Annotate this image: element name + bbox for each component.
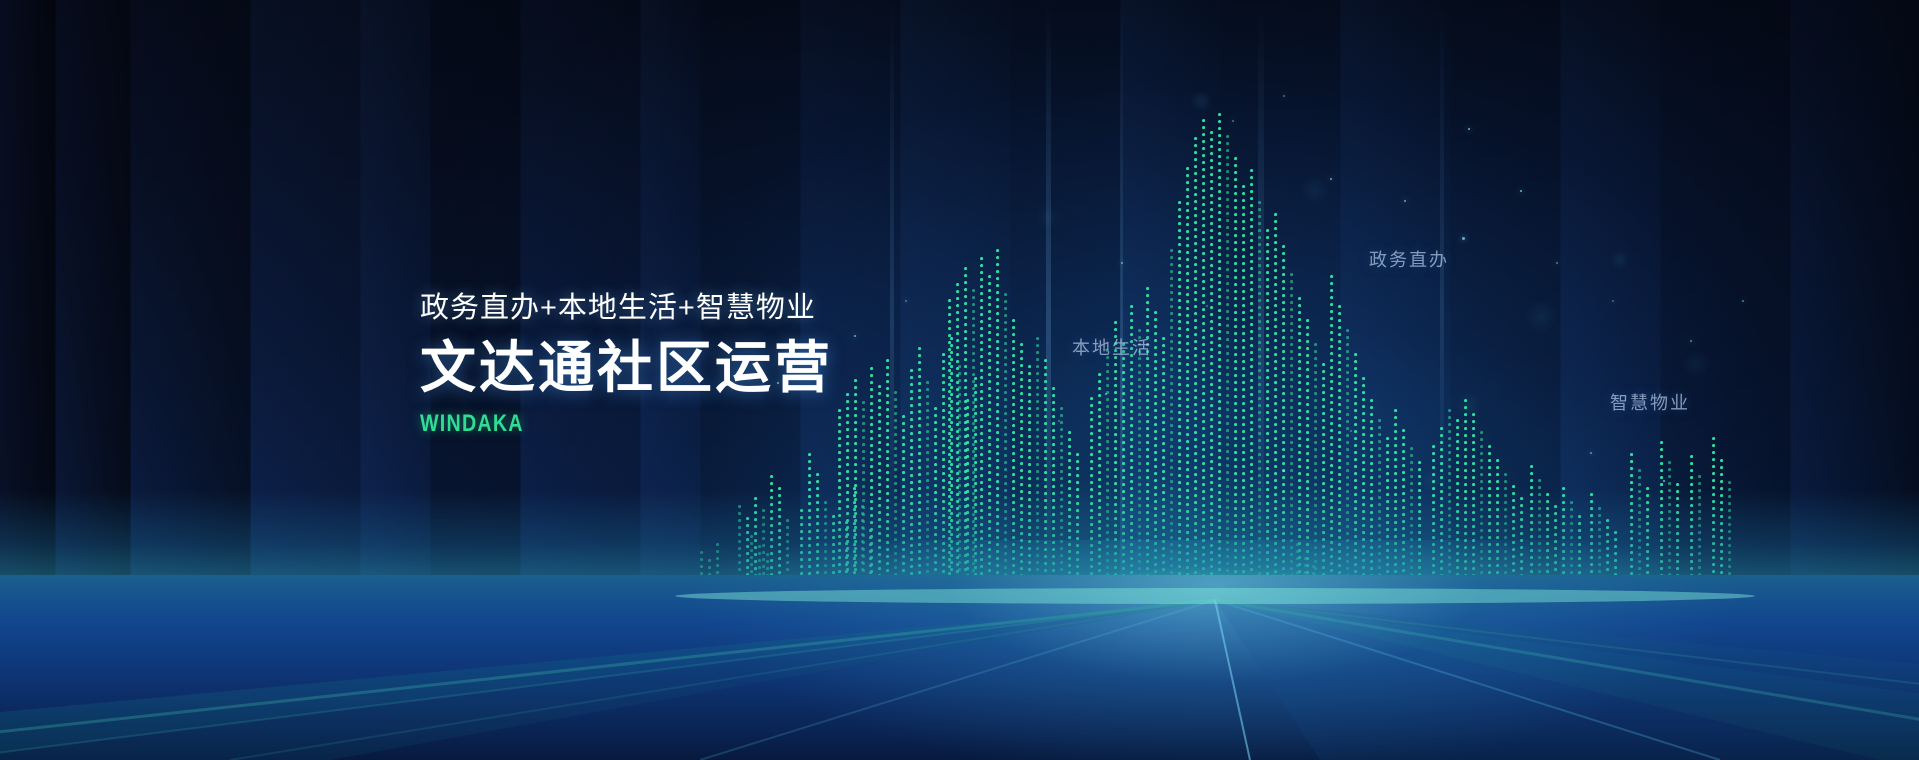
sparkle-particle: [1404, 200, 1406, 202]
city-dot-column: [972, 289, 979, 605]
sparkle-particle: [1742, 300, 1744, 302]
sparkle-particle: [1232, 120, 1234, 122]
city-dot-column: [1330, 275, 1337, 605]
banner-title: 文达通社区运营: [420, 336, 833, 400]
city-dot-column: [1282, 245, 1289, 605]
sparkle-particle: [1350, 430, 1352, 432]
bokeh-particle: [1300, 175, 1330, 205]
city-dot-column: [1186, 167, 1193, 605]
city-dot-column: [956, 283, 963, 605]
city-dot-column: [1194, 137, 1201, 605]
city-dot-column: [1234, 157, 1241, 605]
sparkle-particle: [1058, 420, 1060, 422]
city-dot-column: [1098, 373, 1105, 605]
sparkle-particle: [1663, 480, 1665, 482]
bokeh-particle: [1036, 205, 1060, 229]
city-dot-column: [886, 359, 893, 605]
bokeh-particle: [1682, 350, 1710, 378]
city-dot-column: [1250, 169, 1257, 605]
city-dot-column: [1226, 135, 1233, 605]
city-dot-column: [1218, 113, 1225, 605]
bokeh-particle: [1524, 300, 1558, 334]
city-dot-column: [846, 393, 853, 605]
city-dot-column: [1346, 329, 1353, 605]
city-dot-column: [1266, 229, 1273, 605]
city-dot-column: [1338, 305, 1345, 605]
city-dot-column: [1210, 131, 1217, 605]
hero-banner: 政务直办 本地生活 智慧物业 政务直办+本地生活+智慧物业 文达通社区运营 WI…: [0, 0, 1919, 760]
city-dot-column: [1154, 311, 1161, 605]
city-dot-column: [878, 385, 885, 605]
city-dot-column: [988, 275, 995, 605]
sparkle-particle: [1556, 262, 1558, 264]
city-dot-column: [1322, 363, 1329, 605]
city-dot-column: [948, 299, 955, 605]
city-dot-column: [1020, 343, 1027, 605]
city-dot-column: [1258, 201, 1265, 605]
city-dot-column: [1044, 359, 1051, 605]
bokeh-particle: [1190, 90, 1212, 112]
city-dot-column: [1354, 353, 1361, 605]
city-dot-column: [1122, 343, 1129, 605]
brand-wordmark: WINDAKA: [420, 410, 759, 438]
city-dot-column: [854, 379, 861, 605]
city-dot-column: [1138, 329, 1145, 605]
sparkle-particle: [1590, 452, 1592, 454]
bokeh-particle: [1610, 250, 1630, 270]
city-dot-column: [918, 347, 925, 605]
city-dot-column: [1162, 337, 1169, 605]
banner-subtitle: 政务直办+本地生活+智慧物业: [420, 290, 833, 326]
city-dot-column: [1028, 365, 1035, 605]
sky-label-government: 政务直办: [1369, 246, 1449, 272]
sparkle-particle: [854, 335, 856, 337]
city-dot-column: [1036, 337, 1043, 605]
city-dot-column: [980, 257, 987, 605]
sparkle-particle: [1690, 340, 1692, 342]
sparkle-particle: [1206, 305, 1208, 307]
city-dot-column: [1362, 377, 1369, 605]
ground-plane: [0, 575, 1919, 760]
city-dot-column: [1106, 349, 1113, 605]
sparkle-particle: [1612, 300, 1614, 302]
sparkle-particle: [1121, 262, 1123, 264]
sparkle-particle: [1283, 95, 1285, 97]
city-dot-column: [1178, 201, 1185, 605]
city-dot-column: [870, 367, 877, 605]
city-dot-column: [894, 391, 901, 605]
city-dot-column: [1114, 321, 1121, 605]
sky-label-smart-property: 智慧物业: [1610, 389, 1690, 415]
sparkle-particle: [1330, 178, 1332, 180]
sky-label-local-life: 本地生活: [1072, 334, 1152, 360]
sparkle-particle: [1105, 393, 1107, 395]
sparkle-particle: [1468, 128, 1470, 130]
sparkle-particle: [1283, 470, 1285, 472]
city-dot-column: [910, 369, 917, 605]
bokeh-particle: [1420, 470, 1442, 492]
city-dot-column: [1274, 213, 1281, 605]
city-dot-column: [926, 381, 933, 605]
bokeh-particle: [1456, 392, 1482, 418]
city-dot-column: [1012, 319, 1019, 605]
city-dot-column: [1242, 185, 1249, 605]
headline-block: 政务直办+本地生活+智慧物业 文达通社区运营 WINDAKA: [420, 290, 833, 438]
city-dot-column: [964, 267, 971, 605]
sparkle-particle: [1462, 237, 1465, 240]
city-dot-column: [996, 249, 1003, 605]
city-dot-column: [1090, 397, 1097, 605]
city-dot-column: [1202, 119, 1209, 605]
city-dot-column: [1004, 293, 1011, 605]
sparkle-particle: [905, 300, 907, 302]
sparkle-particle: [1520, 190, 1522, 192]
city-dot-column: [1170, 249, 1177, 605]
